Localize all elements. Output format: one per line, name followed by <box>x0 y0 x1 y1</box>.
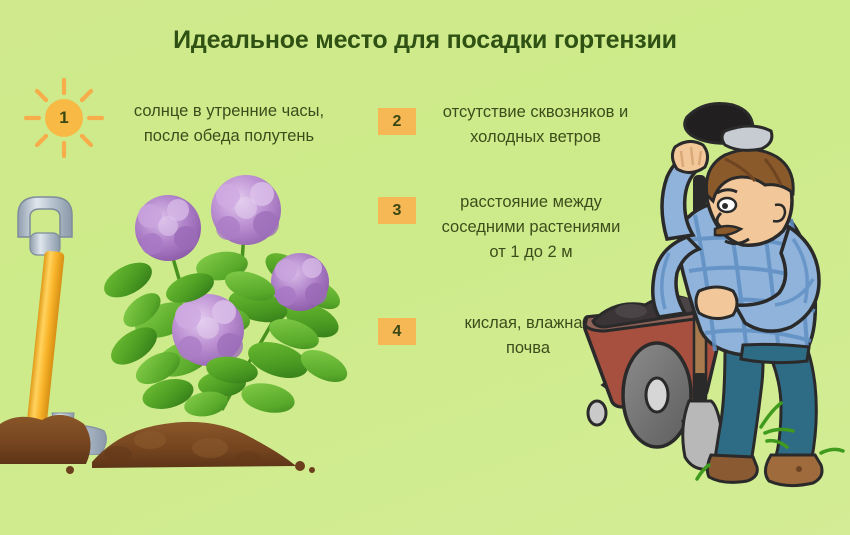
tip-number-1: 1 <box>22 76 106 160</box>
tip-line: после обеда полутень <box>104 124 354 149</box>
hydrangea-bloom <box>271 253 329 311</box>
infographic-canvas: Идеальное место для посадки гортензии 1 … <box>0 0 850 535</box>
hydrangea-bloom <box>135 195 201 261</box>
page-title: Идеальное место для посадки гортензии <box>0 26 850 55</box>
hydrangea-bloom <box>211 175 281 245</box>
hydrangea-bush <box>72 170 372 425</box>
tip-line: солнце в утренние часы, <box>104 99 354 124</box>
tip-text-1: солнце в утренние часы, после обеда полу… <box>104 99 354 149</box>
hydrangea-bloom <box>172 294 244 366</box>
sun-icon: 1 <box>22 76 106 160</box>
gardener-scene <box>575 55 850 500</box>
